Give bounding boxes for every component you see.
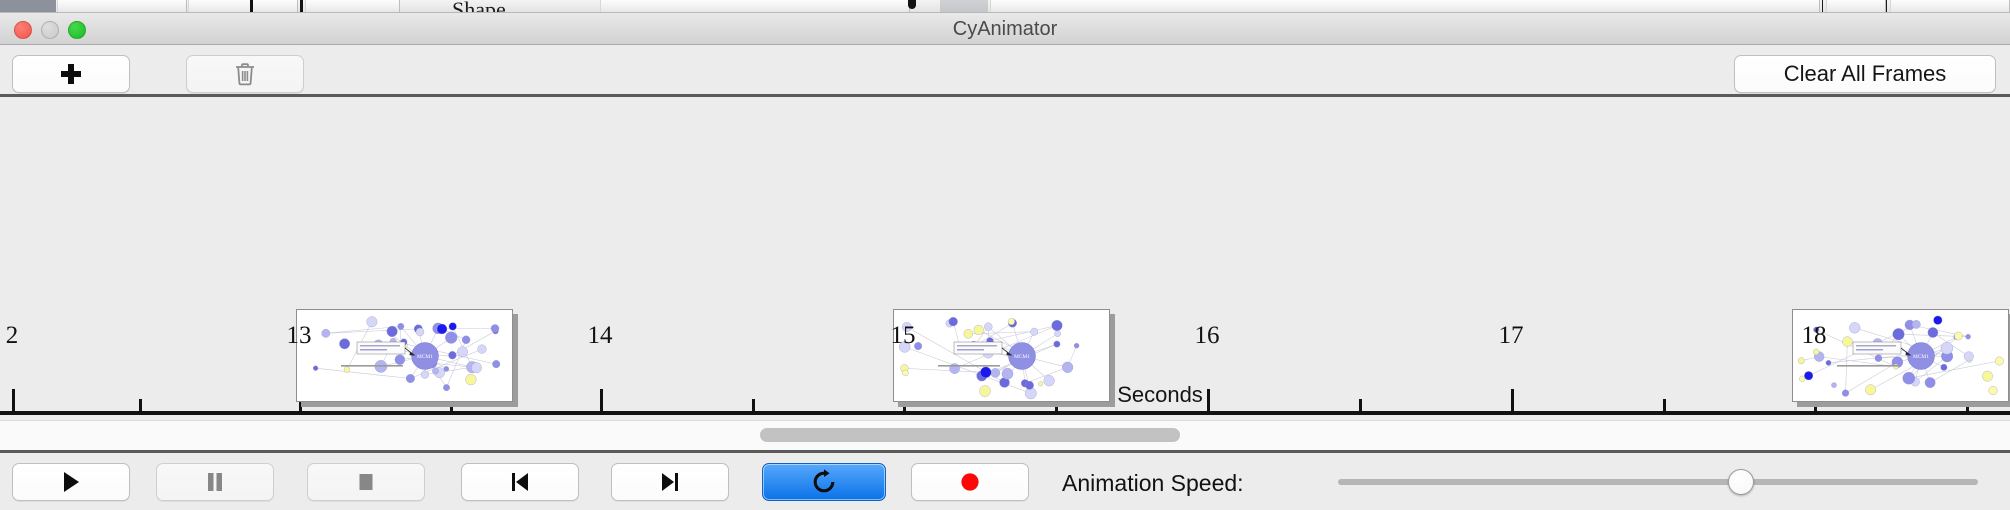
window-title: CyAnimator — [0, 13, 2010, 45]
animation-speed-label: Animation Speed: — [1062, 470, 1244, 497]
record-icon — [958, 470, 982, 494]
skip-end-icon — [659, 470, 681, 494]
skip-start-button[interactable] — [461, 463, 579, 501]
title-bar: CyAnimator — [0, 13, 2010, 45]
skip-end-button[interactable] — [611, 463, 729, 501]
pause-icon — [205, 470, 225, 494]
skip-start-icon — [509, 470, 531, 494]
record-button[interactable] — [911, 463, 1029, 501]
playback-control-bar: Animation Speed: — [0, 453, 2010, 510]
timeline-axis-caption: Seconds — [0, 382, 2010, 408]
delete-frame-button[interactable] — [186, 55, 304, 93]
stop-icon — [356, 470, 376, 494]
animation-speed-slider[interactable] — [1338, 463, 1978, 501]
loop-button[interactable] — [762, 463, 886, 501]
frame-toolbar: Clear All Frames — [0, 45, 2010, 96]
timeline-panel[interactable]: MCM1MCM1MCM1 — [0, 97, 2010, 415]
clear-all-frames-button[interactable]: Clear All Frames — [1734, 55, 1996, 93]
timeline-axis-line — [0, 411, 2010, 415]
trash-icon — [234, 62, 256, 86]
background-window-label: Shape — [452, 0, 506, 13]
tick-label: 2 — [6, 322, 19, 350]
background-window-strip: Shape — [0, 0, 2010, 13]
clear-all-frames-label: Clear All Frames — [1784, 61, 1947, 87]
tick-label: 15 — [891, 322, 916, 350]
play-icon — [60, 470, 82, 494]
slider-track — [1338, 479, 1978, 485]
svg-text:MCM1: MCM1 — [417, 354, 433, 360]
pause-button[interactable] — [156, 463, 274, 501]
tick-label: 17 — [1499, 322, 1524, 350]
stop-button[interactable] — [307, 463, 425, 501]
tick-label: 14 — [588, 322, 613, 350]
add-frame-button[interactable] — [12, 55, 130, 93]
tick-label: 16 — [1195, 322, 1220, 350]
svg-text:MCM1: MCM1 — [1014, 354, 1030, 360]
tick-label: 13 — [287, 322, 312, 350]
svg-text:MCM1: MCM1 — [1913, 354, 1929, 360]
tick-label: 18 — [1802, 322, 1827, 350]
cyanimator-window: Shape CyAnimator — [0, 0, 2010, 510]
play-button[interactable] — [12, 463, 130, 501]
plus-icon — [61, 64, 81, 84]
slider-thumb[interactable] — [1728, 469, 1754, 495]
loop-icon — [811, 469, 837, 495]
timeline-scrollbar-track[interactable] — [0, 420, 2010, 450]
timeline-scrollbar-thumb[interactable] — [760, 428, 1180, 442]
